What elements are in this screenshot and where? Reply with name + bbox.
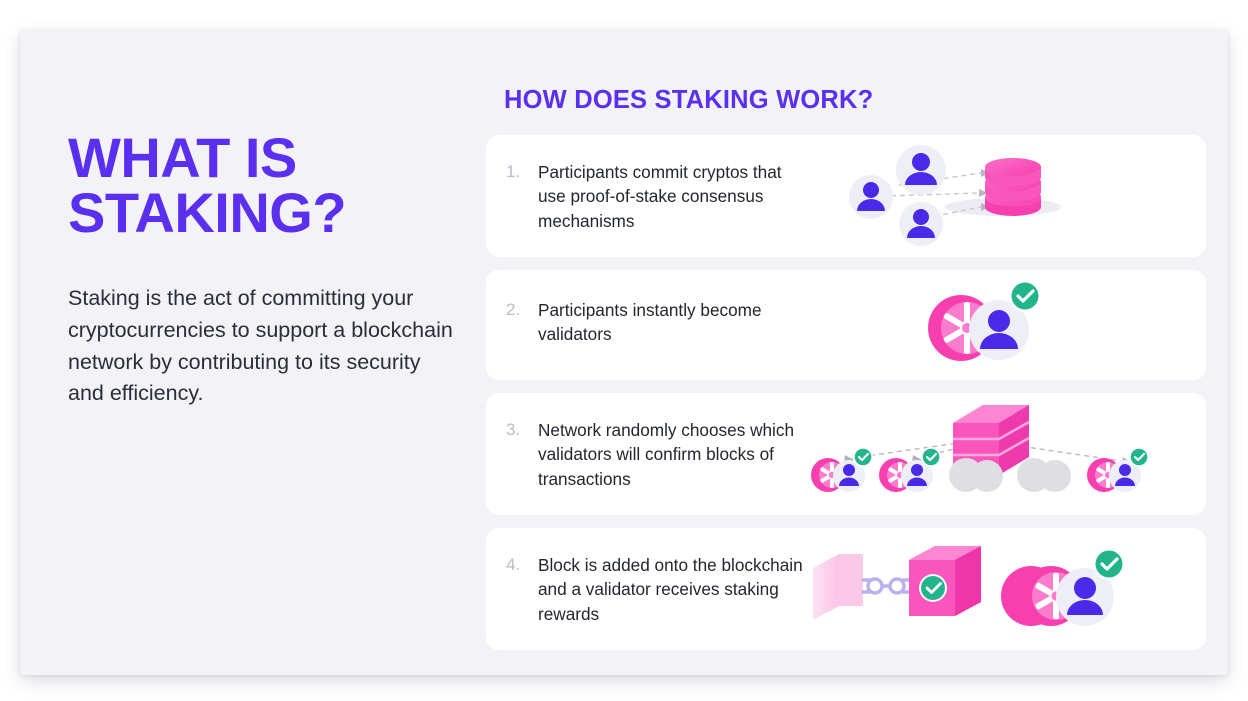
step-number: 3. [486, 420, 538, 440]
step-card-2[interactable]: 2. Participants instantly become validat… [486, 270, 1206, 380]
step-description: Participants commit cryptos that use pro… [538, 160, 803, 233]
intro-paragraph: Staking is the act of committing your cr… [68, 283, 458, 410]
step-card-3[interactable]: 3. Network randomly chooses which valida… [486, 393, 1206, 515]
step-description: Participants instantly become validators [538, 298, 803, 347]
illustration-block-selects-validators [803, 393, 1206, 515]
step-card-1[interactable]: 1. Participants commit cryptos that use … [486, 135, 1206, 257]
step-number: 2. [486, 300, 538, 320]
step-description: Network randomly chooses which validator… [538, 418, 803, 491]
check-badge-icon [1093, 548, 1125, 580]
slide-canvas: WHAT IS STAKING? Staking is the act of c… [20, 30, 1228, 675]
previous-block-icon [813, 554, 863, 620]
new-block-icon [909, 546, 981, 616]
illustration-participants-to-coins [803, 135, 1206, 257]
steps-section: HOW DOES STAKING WORK? 1. Participants c… [486, 86, 1206, 663]
step-number: 4. [486, 555, 538, 575]
step-card-4[interactable]: 4. Block is added onto the blockchain an… [486, 528, 1206, 650]
page-title: WHAT IS STAKING? [68, 130, 458, 241]
section-heading: HOW DOES STAKING WORK? [504, 86, 1206, 115]
intro-section: WHAT IS STAKING? Staking is the act of c… [68, 130, 458, 410]
step-number: 1. [486, 162, 538, 182]
chain-link-icon [863, 579, 911, 593]
avatar-group [849, 145, 946, 246]
coin-stack [985, 158, 1041, 216]
illustration-validator-badge [803, 270, 1206, 380]
step-description: Block is added onto the blockchain and a… [538, 553, 803, 626]
illustration-chained-blocks-reward [803, 528, 1206, 650]
check-badge-icon [1009, 280, 1041, 312]
